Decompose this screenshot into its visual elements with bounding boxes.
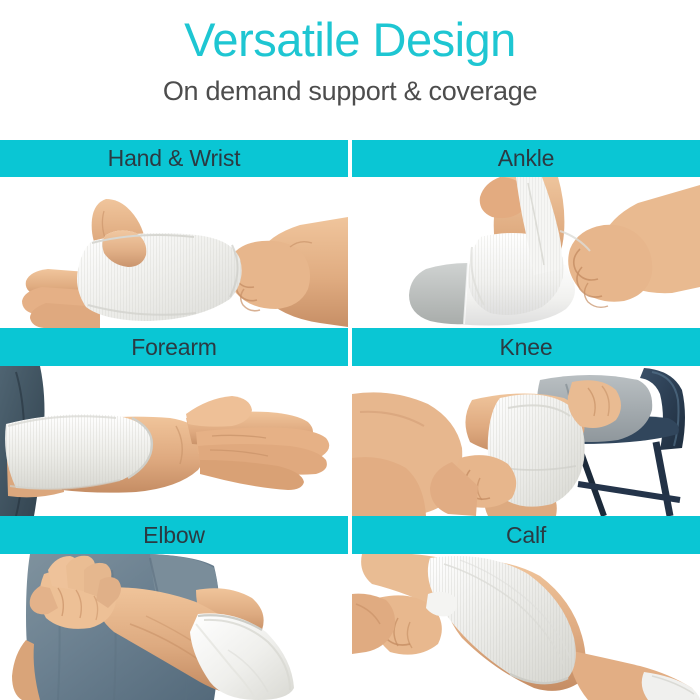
infographic-page: Versatile Design On demand support & cov… [0, 0, 700, 700]
knee-illustration [352, 366, 700, 516]
cell-label: Knee [500, 336, 553, 359]
hand-wrist-illustration [0, 177, 348, 328]
label-bar-elbow: Elbow [0, 516, 348, 554]
photo-knee [352, 366, 700, 516]
grid-cell-calf[interactable]: Calf [352, 516, 700, 700]
grid-cell-knee[interactable]: Knee [352, 328, 700, 516]
label-bar-forearm: Forearm [0, 328, 348, 366]
cell-label: Ankle [498, 147, 555, 170]
grid-cell-elbow[interactable]: Elbow [0, 516, 348, 700]
photo-calf [352, 554, 700, 700]
calf-illustration [352, 554, 700, 700]
feature-grid: Hand & Wrist [0, 140, 700, 700]
ankle-illustration [352, 177, 700, 328]
photo-hand-wrist [0, 177, 348, 328]
cell-label: Elbow [143, 524, 205, 547]
photo-elbow [0, 554, 348, 700]
grid-cell-hand-wrist[interactable]: Hand & Wrist [0, 140, 348, 328]
grid-cell-ankle[interactable]: Ankle [352, 140, 700, 328]
cell-label: Calf [506, 524, 546, 547]
page-title: Versatile Design [184, 14, 516, 67]
page-subtitle: On demand support & coverage [163, 75, 537, 107]
label-bar-knee: Knee [352, 328, 700, 366]
grid-cell-forearm[interactable]: Forearm [0, 328, 348, 516]
cell-label: Forearm [131, 336, 217, 359]
elbow-illustration [0, 554, 348, 700]
label-bar-calf: Calf [352, 516, 700, 554]
label-bar-hand-wrist: Hand & Wrist [0, 140, 348, 177]
photo-ankle [352, 177, 700, 328]
label-bar-ankle: Ankle [352, 140, 700, 177]
cell-label: Hand & Wrist [108, 147, 241, 170]
photo-forearm [0, 366, 348, 516]
forearm-illustration [0, 366, 348, 516]
header: Versatile Design On demand support & cov… [0, 0, 700, 140]
